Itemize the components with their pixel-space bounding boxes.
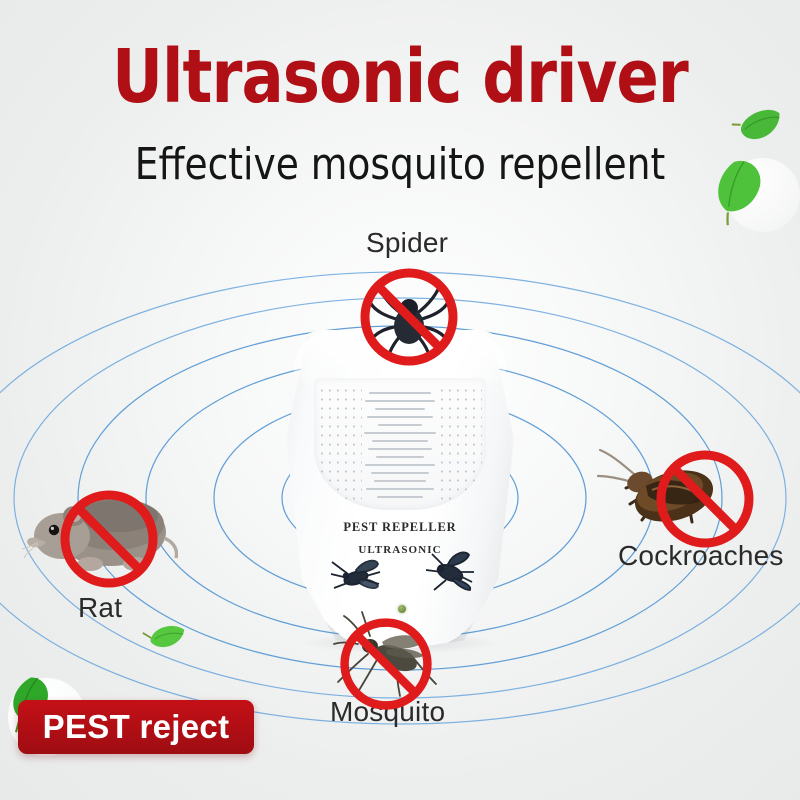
fly-right-icon	[420, 546, 476, 596]
device-brand-line-1: PEST REPELLER	[286, 520, 514, 535]
grille-slot	[372, 440, 428, 442]
grille-slot	[368, 448, 432, 450]
page-title: Ultrasonic driver	[24, 38, 776, 116]
spider-prohibition-icon	[358, 266, 460, 368]
grille-slot	[376, 456, 424, 458]
grille-slot	[365, 464, 435, 466]
grille-slot	[371, 472, 429, 474]
device-speaker-grille	[314, 378, 486, 510]
advertisement-canvas: Ultrasonic driver Effective mosquito rep…	[0, 0, 800, 800]
page-subtitle: Effective mosquito repellent	[20, 140, 780, 190]
grille-slot	[375, 408, 425, 410]
grille-dots-left	[318, 386, 362, 502]
grille-slot	[369, 392, 431, 394]
pest-reject-badge-label: PEST reject	[43, 708, 230, 746]
mosquito-prohibition-icon	[338, 616, 434, 712]
grille-slot	[364, 432, 436, 434]
cockroach-prohibition-icon	[654, 448, 756, 550]
device-brand-line-2: ULTRASONIC	[286, 544, 514, 556]
grille-dots-right	[438, 386, 482, 502]
rat-prohibition-icon	[58, 488, 160, 590]
pest-label-rat: Rat	[78, 592, 122, 624]
grille-slot	[378, 424, 422, 426]
grille-slot	[377, 496, 423, 498]
grille-slot	[374, 480, 426, 482]
fly-left-icon	[326, 552, 382, 598]
grille-slot	[366, 488, 434, 490]
pest-label-spider: Spider	[366, 227, 448, 259]
pest-reject-badge[interactable]: PEST reject	[18, 700, 254, 754]
grille-slot	[367, 416, 433, 418]
grille-slot	[365, 400, 435, 402]
pest-repeller-device: PEST REPELLER ULTRASONIC	[286, 330, 514, 650]
grille-slots	[364, 388, 436, 500]
